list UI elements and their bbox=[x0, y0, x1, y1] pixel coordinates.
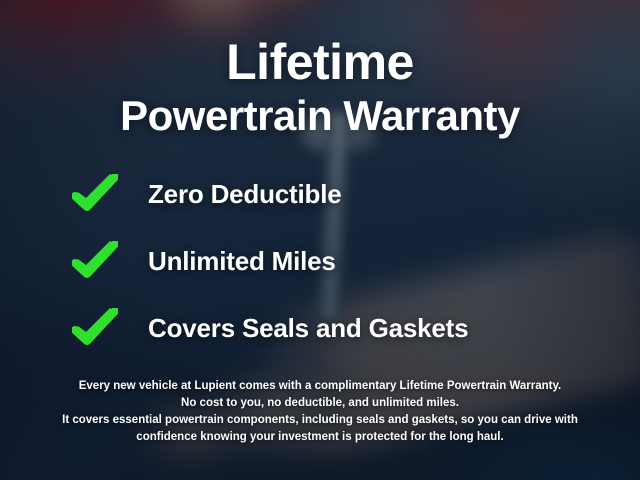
benefit-label: Zero Deductible bbox=[148, 179, 341, 210]
headline-primary: Lifetime bbox=[0, 34, 640, 90]
benefit-label: Covers Seals and Gaskets bbox=[148, 313, 468, 344]
headline-secondary: Powertrain Warranty bbox=[0, 92, 640, 140]
benefit-item-covers-seals-and-gaskets: Covers Seals and Gaskets bbox=[72, 308, 640, 348]
lifetime-warranty-banner: Lifetime Powertrain Warranty Zero Deduct… bbox=[0, 0, 640, 480]
fineprint-line: confidence knowing your investment is pr… bbox=[22, 429, 618, 446]
banner-content: Lifetime Powertrain Warranty Zero Deduct… bbox=[0, 0, 640, 480]
benefit-list: Zero Deductible Unlimited Miles Covers S… bbox=[0, 174, 640, 348]
fineprint-block: Every new vehicle at Lupient comes with … bbox=[0, 378, 640, 446]
benefit-item-zero-deductible: Zero Deductible bbox=[72, 174, 640, 214]
fineprint-line: It covers essential powertrain component… bbox=[22, 412, 618, 429]
check-icon bbox=[72, 174, 118, 214]
check-icon bbox=[72, 241, 118, 281]
check-icon bbox=[72, 308, 118, 348]
benefit-item-unlimited-miles: Unlimited Miles bbox=[72, 241, 640, 281]
fineprint-line: Every new vehicle at Lupient comes with … bbox=[22, 378, 618, 395]
fineprint-line: No cost to you, no deductible, and unlim… bbox=[22, 395, 618, 412]
benefit-label: Unlimited Miles bbox=[148, 246, 336, 277]
